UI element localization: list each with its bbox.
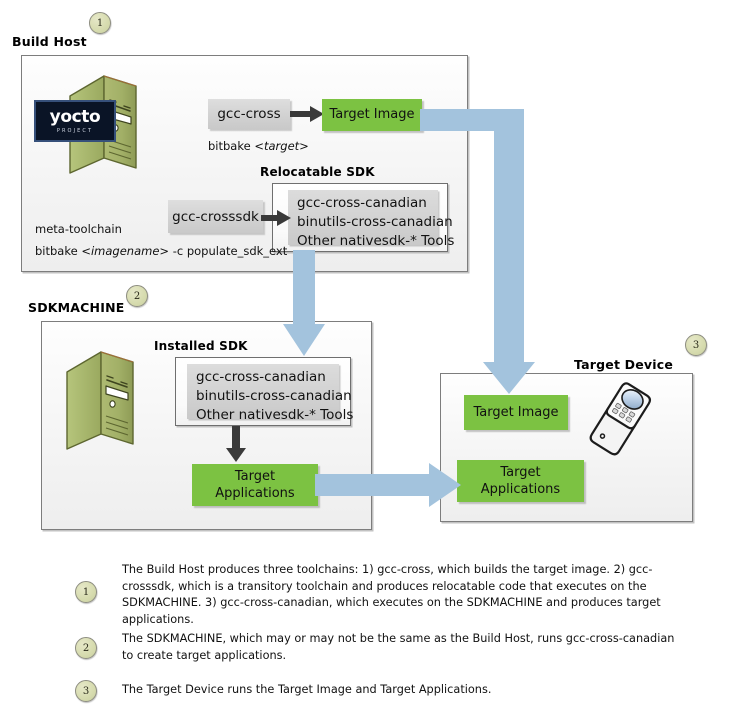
relocatable-sdk-item-0: gcc-cross-canadian bbox=[297, 194, 429, 213]
sdkmachine-title: SDKMACHINE bbox=[28, 300, 124, 315]
device-target-apps-line2: Applications bbox=[481, 481, 560, 498]
target-device-title: Target Device bbox=[574, 357, 673, 372]
bitbake-target-label: bitbake <target> bbox=[208, 139, 309, 153]
relocatable-sdk-item-2: Other nativesdk-* Tools bbox=[297, 232, 429, 251]
gcc-crosssdk-box: gcc-crosssdk bbox=[168, 200, 263, 233]
target-image-box-device: Target Image bbox=[464, 395, 568, 430]
meta-toolchain-label: meta-toolchain bbox=[35, 222, 122, 236]
installed-sdk-item-0: gcc-cross-canadian bbox=[196, 368, 330, 387]
note-badge-2: 2 bbox=[75, 637, 97, 659]
bitbake-sdk-pre: bitbake bbox=[35, 244, 81, 258]
target-apps-line2: Applications bbox=[215, 485, 294, 502]
device-target-apps-line1: Target bbox=[500, 464, 540, 481]
target-applications-box-sdkmachine: Target Applications bbox=[192, 464, 318, 506]
bitbake-target-pre: bitbake bbox=[208, 139, 254, 153]
badge-2-sdkmachine: 2 bbox=[126, 285, 148, 307]
relocatable-sdk-item-1: binutils-cross-canadian bbox=[297, 213, 429, 232]
bitbake-populate-sdk-label: bitbake <imagename> -c populate_sdk_ext bbox=[35, 244, 287, 258]
yocto-logo-primary: yocto bbox=[50, 109, 101, 126]
note-badge-3: 3 bbox=[75, 680, 97, 702]
badge-3-target-device: 3 bbox=[685, 334, 707, 356]
gcc-cross-box: gcc-cross bbox=[208, 99, 290, 129]
badge-1-build-host: 1 bbox=[89, 12, 111, 34]
bitbake-sdk-arg: <imagename> bbox=[81, 244, 169, 258]
target-apps-line1: Target bbox=[235, 468, 275, 485]
target-image-box-build-host: Target Image bbox=[322, 99, 422, 131]
installed-sdk-item-2: Other nativesdk-* Tools bbox=[196, 406, 330, 425]
yocto-logo-secondary: PROJECT bbox=[57, 128, 93, 134]
note-text-1: The Build Host produces three toolchains… bbox=[122, 562, 687, 629]
relocatable-sdk-list: gcc-cross-canadian binutils-cross-canadi… bbox=[288, 190, 438, 245]
relocatable-sdk-title: Relocatable SDK bbox=[260, 165, 375, 179]
diagram-canvas: Build Host 1 bbox=[0, 0, 730, 723]
note-text-2: The SDKMACHINE, which may or may not be … bbox=[122, 631, 687, 664]
build-host-title: Build Host bbox=[12, 34, 87, 49]
yocto-project-logo: yocto PROJECT bbox=[34, 100, 116, 142]
bitbake-sdk-post: -c populate_sdk_ext bbox=[169, 244, 287, 258]
installed-sdk-title: Installed SDK bbox=[154, 339, 248, 353]
installed-sdk-item-1: binutils-cross-canadian bbox=[196, 387, 330, 406]
installed-sdk-list: gcc-cross-canadian binutils-cross-canadi… bbox=[187, 364, 339, 419]
target-applications-box-device: Target Applications bbox=[457, 460, 584, 502]
bitbake-target-arg: <target> bbox=[254, 139, 308, 153]
note-text-3: The Target Device runs the Target Image … bbox=[122, 682, 687, 699]
note-badge-1: 1 bbox=[75, 581, 97, 603]
